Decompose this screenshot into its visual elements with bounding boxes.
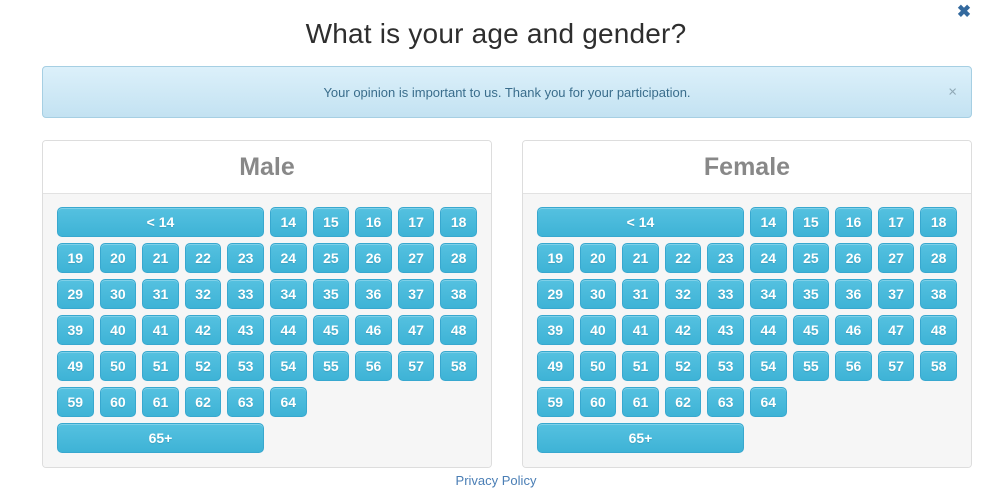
age-option-male-60[interactable]: 60 [100,387,137,417]
age-option-male-39[interactable]: 39 [57,315,94,345]
age-option-female-63[interactable]: 63 [707,387,744,417]
age-option-female-30[interactable]: 30 [580,279,617,309]
age-option-female-39[interactable]: 39 [537,315,574,345]
privacy-policy-link[interactable]: Privacy Policy [456,473,537,488]
age-option-male-63[interactable]: 63 [227,387,264,417]
info-banner: Your opinion is important to us. Thank y… [42,66,972,118]
age-option-male-45[interactable]: 45 [313,315,350,345]
age-option-female-17[interactable]: 17 [878,207,915,237]
close-icon[interactable]: ✖ [954,2,974,22]
age-option-female-61[interactable]: 61 [622,387,659,417]
age-option-male-32[interactable]: 32 [185,279,222,309]
age-option-female-58[interactable]: 58 [920,351,957,381]
age-option-male-51[interactable]: 51 [142,351,179,381]
age-option-female-54[interactable]: 54 [750,351,787,381]
age-option-male-25[interactable]: 25 [313,243,350,273]
age-option-male-40[interactable]: 40 [100,315,137,345]
age-option-male-64[interactable]: 64 [270,387,307,417]
age-option-female-47[interactable]: 47 [878,315,915,345]
age-option-male-31[interactable]: 31 [142,279,179,309]
age-option-male-50[interactable]: 50 [100,351,137,381]
age-option-male-53[interactable]: 53 [227,351,264,381]
age-option-female-44[interactable]: 44 [750,315,787,345]
age-option-male-54[interactable]: 54 [270,351,307,381]
panel-male: Male< 1414151617181920212223242526272829… [42,140,492,468]
age-option-female-37[interactable]: 37 [878,279,915,309]
age-option-female-20[interactable]: 20 [580,243,617,273]
age-option-female-23[interactable]: 23 [707,243,744,273]
age-option-female-40[interactable]: 40 [580,315,617,345]
age-option-female-62[interactable]: 62 [665,387,702,417]
page-title: What is your age and gender? [0,0,992,62]
age-option-female-19[interactable]: 19 [537,243,574,273]
age-option-male-59[interactable]: 59 [57,387,94,417]
age-option-male-30[interactable]: 30 [100,279,137,309]
age-option-male-42[interactable]: 42 [185,315,222,345]
age-option-female-33[interactable]: 33 [707,279,744,309]
panel-body-female: < 14141516171819202122232425262728293031… [523,194,971,467]
age-option-female-25[interactable]: 25 [793,243,830,273]
age-option-female-16[interactable]: 16 [835,207,872,237]
panel-header-female: Female [523,141,971,194]
age-option-female-64[interactable]: 64 [750,387,787,417]
age-option-male-57[interactable]: 57 [398,351,435,381]
age-option-female-43[interactable]: 43 [707,315,744,345]
age-option-female-14[interactable]: 14 [750,207,787,237]
age-option-female-15[interactable]: 15 [793,207,830,237]
age-option-male-14[interactable]: 14 [270,207,307,237]
age-option-female-34[interactable]: 34 [750,279,787,309]
age-option-male-56[interactable]: 56 [355,351,392,381]
age-option-female-48[interactable]: 48 [920,315,957,345]
banner-close-icon[interactable]: × [948,85,957,100]
age-option-female-56[interactable]: 56 [835,351,872,381]
age-grid-female: < 14141516171819202122232425262728293031… [537,207,957,453]
age-option-female-18[interactable]: 18 [920,207,957,237]
age-option-male-49[interactable]: 49 [57,351,94,381]
age-option-male-23[interactable]: 23 [227,243,264,273]
age-option-male-15[interactable]: 15 [313,207,350,237]
age-option-female-38[interactable]: 38 [920,279,957,309]
age-option-male-19[interactable]: 19 [57,243,94,273]
age-option-male-21[interactable]: 21 [142,243,179,273]
info-banner-message: Your opinion is important to us. Thank y… [323,85,690,100]
age-option-male-44[interactable]: 44 [270,315,307,345]
age-option-female-24[interactable]: 24 [750,243,787,273]
age-option-male-38[interactable]: 38 [440,279,477,309]
age-option-female-65+[interactable]: 65+ [537,423,744,453]
gender-panels: Male< 1414151617181920212223242526272829… [42,140,972,468]
age-option-female-46[interactable]: 46 [835,315,872,345]
age-option-female-57[interactable]: 57 [878,351,915,381]
age-option-female-59[interactable]: 59 [537,387,574,417]
age-option-male-33[interactable]: 33 [227,279,264,309]
footer: Privacy Policy [0,472,992,490]
age-option-male-22[interactable]: 22 [185,243,222,273]
age-option-male-61[interactable]: 61 [142,387,179,417]
age-option-male-37[interactable]: 37 [398,279,435,309]
age-option-female-42[interactable]: 42 [665,315,702,345]
age-option-female-36[interactable]: 36 [835,279,872,309]
age-option-female-60[interactable]: 60 [580,387,617,417]
age-option-male-58[interactable]: 58 [440,351,477,381]
age-option-male-52[interactable]: 52 [185,351,222,381]
age-option-female-26[interactable]: 26 [835,243,872,273]
age-option-male-20[interactable]: 20 [100,243,137,273]
age-option-male-62[interactable]: 62 [185,387,222,417]
age-option-male-24[interactable]: 24 [270,243,307,273]
age-option-male-29[interactable]: 29 [57,279,94,309]
age-option-female-32[interactable]: 32 [665,279,702,309]
age-option-male-47[interactable]: 47 [398,315,435,345]
age-option-male-28[interactable]: 28 [440,243,477,273]
age-option-male-26[interactable]: 26 [355,243,392,273]
age-option-male-41[interactable]: 41 [142,315,179,345]
age-option-female-22[interactable]: 22 [665,243,702,273]
age-option-male-43[interactable]: 43 [227,315,264,345]
age-option-male-18[interactable]: 18 [440,207,477,237]
age-option-female-41[interactable]: 41 [622,315,659,345]
age-option-male-27[interactable]: 27 [398,243,435,273]
age-option-female-45[interactable]: 45 [793,315,830,345]
age-option-male-17[interactable]: 17 [398,207,435,237]
age-option-female-28[interactable]: 28 [920,243,957,273]
age-option-female-53[interactable]: 53 [707,351,744,381]
age-option-female-21[interactable]: 21 [622,243,659,273]
age-option-male-16[interactable]: 16 [355,207,392,237]
age-option-male-65+[interactable]: 65+ [57,423,264,453]
panel-title-male: Male [239,153,295,182]
age-option-female-27[interactable]: 27 [878,243,915,273]
panel-title-female: Female [704,153,790,182]
age-option-female-14[interactable]: < 14 [537,207,744,237]
age-option-male-36[interactable]: 36 [355,279,392,309]
age-option-male-35[interactable]: 35 [313,279,350,309]
panel-header-male: Male [43,141,491,194]
age-option-female-55[interactable]: 55 [793,351,830,381]
age-option-female-35[interactable]: 35 [793,279,830,309]
age-option-female-31[interactable]: 31 [622,279,659,309]
age-option-female-29[interactable]: 29 [537,279,574,309]
age-option-female-51[interactable]: 51 [622,351,659,381]
age-option-female-52[interactable]: 52 [665,351,702,381]
age-option-male-46[interactable]: 46 [355,315,392,345]
panel-body-male: < 14141516171819202122232425262728293031… [43,194,491,467]
age-option-male-48[interactable]: 48 [440,315,477,345]
age-option-female-49[interactable]: 49 [537,351,574,381]
panel-female: Female< 14141516171819202122232425262728… [522,140,972,468]
age-option-male-34[interactable]: 34 [270,279,307,309]
age-option-male-55[interactable]: 55 [313,351,350,381]
age-option-male-14[interactable]: < 14 [57,207,264,237]
age-option-female-50[interactable]: 50 [580,351,617,381]
age-grid-male: < 14141516171819202122232425262728293031… [57,207,477,453]
